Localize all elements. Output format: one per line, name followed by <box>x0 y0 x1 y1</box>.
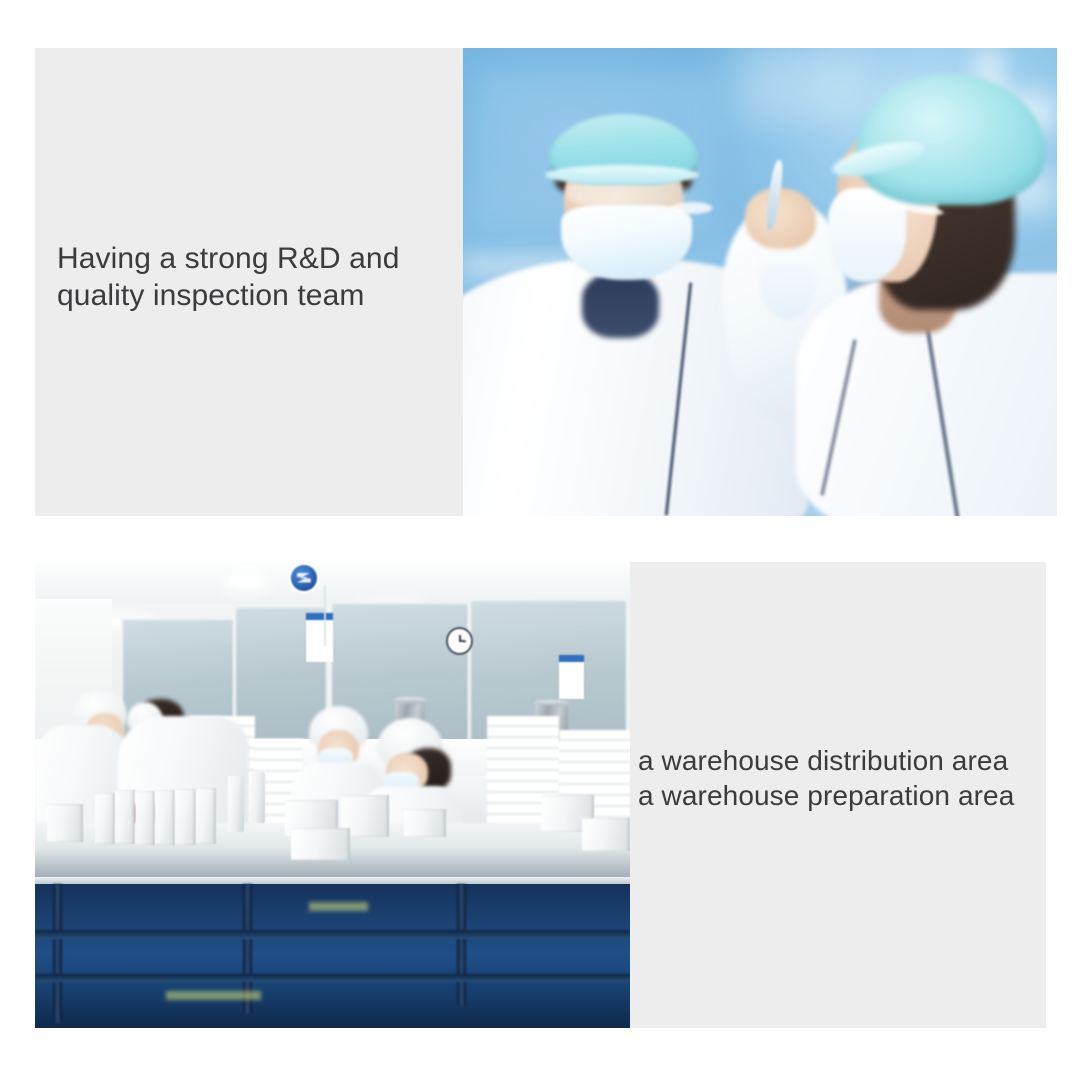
product-tube <box>249 772 264 823</box>
lab-background <box>463 48 1057 516</box>
floor-marking <box>309 902 369 911</box>
carton <box>155 790 175 845</box>
carton <box>404 809 446 837</box>
lab-worker-left-hairnet-brim <box>545 165 699 185</box>
wall-poster <box>559 655 584 699</box>
table-rail <box>35 974 630 981</box>
cleanroom-ceiling <box>35 562 630 604</box>
carton <box>95 793 115 844</box>
carton <box>582 818 630 851</box>
lab-hand <box>745 188 816 249</box>
table-leg <box>53 884 63 1024</box>
lab-worker-left-mask-strap <box>671 202 713 213</box>
ceiling-light <box>231 578 261 585</box>
warehouse-background <box>35 562 630 1028</box>
wall-poster <box>306 613 333 662</box>
hanging-cord <box>324 585 326 646</box>
product-tube <box>228 776 243 832</box>
carton <box>135 791 155 845</box>
floor-marking <box>166 991 261 1000</box>
carton <box>291 828 351 861</box>
photo-quality-inspection-lab <box>463 48 1057 516</box>
lab-ceiling-light <box>736 48 867 123</box>
carton <box>196 788 216 844</box>
carton <box>175 789 195 845</box>
carton <box>47 804 83 841</box>
photo-warehouse-packing <box>35 562 630 1028</box>
lab-worker-right-hairnet <box>855 74 1045 205</box>
table-rail <box>35 930 630 939</box>
lab-worker-left-collar <box>582 273 659 339</box>
caption-research-quality: Having a strong R&D and quality inspecti… <box>57 240 457 314</box>
table-leg <box>457 884 465 1005</box>
page-root: Having a strong R&D and quality inspecti… <box>0 0 1080 1080</box>
carton <box>115 790 135 844</box>
blue-circular-sign-icon <box>291 565 317 591</box>
caption-warehouse: a warehouse distribution area a warehous… <box>638 743 1048 813</box>
